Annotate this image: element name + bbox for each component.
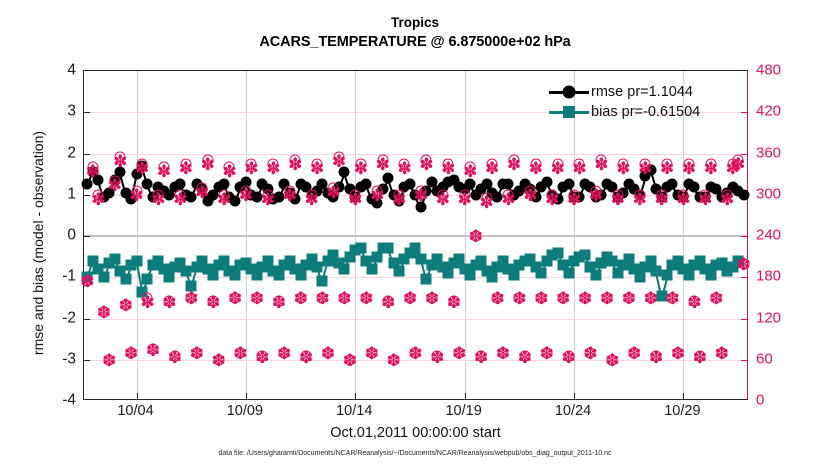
data-point-open-circle [426, 292, 437, 303]
data-point-open-circle [394, 189, 405, 200]
series-line-segment [87, 261, 94, 278]
data-point-open-circle [727, 158, 738, 169]
data-point-asterisk: ✽ [108, 181, 122, 195]
data-point-filled-square [574, 251, 585, 262]
data-point-asterisk: ✽ [299, 353, 313, 367]
data-point-asterisk: ✽ [551, 164, 565, 178]
series-line-segment [415, 195, 422, 208]
series-line-segment [322, 261, 329, 282]
series-line-segment [338, 263, 345, 270]
data-point-open-circle [158, 162, 169, 173]
series-line-segment [491, 267, 498, 278]
tick-left [84, 319, 90, 320]
series-line-segment [387, 179, 394, 196]
series-line-segment [119, 173, 126, 194]
series-line-segment [404, 253, 411, 260]
data-point-filled-circle [525, 183, 536, 194]
data-point-filled-circle [415, 202, 426, 213]
data-point-asterisk: ✽ [638, 164, 652, 178]
series-line-segment [464, 269, 471, 276]
series-line-segment [103, 193, 109, 198]
data-point-filled-square [328, 249, 339, 260]
data-point-filled-circle [661, 181, 672, 192]
series-line-segment [327, 193, 333, 198]
series-line-segment [382, 248, 388, 250]
data-point-filled-square [470, 259, 481, 270]
gridline-vertical [465, 71, 466, 399]
data-point-filled-circle [476, 183, 487, 194]
data-point-open-circle [410, 347, 421, 358]
series-line-segment [475, 261, 481, 266]
series-line-segment [426, 183, 433, 192]
series-line-segment [415, 249, 422, 260]
data-point-filled-square [164, 272, 175, 283]
data-point-filled-circle [306, 189, 317, 200]
data-point-filled-circle [344, 183, 355, 194]
data-point-asterisk: ✽ [233, 349, 247, 363]
data-point-filled-circle [629, 183, 640, 194]
left-tick-label: -4 [18, 392, 76, 408]
series-line-segment [322, 185, 329, 194]
chart-title-sub: ACARS_TEMPERATURE @ 6.875000e+02 hPa [0, 32, 830, 52]
data-point-open-circle [525, 186, 536, 197]
series-line-segment [480, 261, 487, 272]
data-point-filled-circle [443, 177, 454, 188]
data-point-open-circle [716, 347, 727, 358]
data-point-filled-square [399, 253, 410, 264]
data-point-filled-square [383, 242, 394, 253]
tick-right [741, 154, 747, 155]
series-line-segment [365, 185, 372, 200]
series-line-segment [393, 195, 400, 202]
series-line-segment [366, 261, 373, 270]
data-point-filled-circle [93, 175, 104, 186]
series-line-segment [475, 189, 482, 196]
series-line-segment [218, 261, 224, 266]
series-line-segment [169, 267, 176, 278]
data-point-open-circle [552, 158, 563, 169]
series-line-segment [376, 249, 383, 258]
data-point-filled-circle [109, 175, 120, 186]
data-point-filled-square [585, 261, 596, 272]
data-point-open-circle [465, 162, 476, 173]
data-point-filled-circle [120, 187, 131, 198]
data-point-asterisk: ✽ [212, 356, 226, 370]
data-point-asterisk: ✽ [277, 349, 291, 363]
series-line-segment [175, 184, 181, 188]
series-line-segment [316, 267, 323, 282]
series-line-segment [683, 269, 690, 276]
data-point-asterisk: ✽ [611, 195, 625, 209]
series-line-segment [300, 184, 306, 188]
series-line-segment [716, 263, 722, 267]
data-point-open-circle [733, 155, 744, 166]
right-tick-label: 120 [756, 310, 796, 325]
data-point-filled-circle [197, 183, 208, 194]
data-point-open-circle [470, 231, 481, 242]
data-point-filled-square [514, 259, 525, 270]
data-point-filled-circle [541, 177, 552, 188]
data-point-filled-circle [716, 191, 727, 202]
data-point-filled-square [301, 259, 312, 270]
data-point-filled-circle [399, 181, 410, 192]
data-point-filled-square [733, 255, 744, 266]
data-point-filled-square [257, 261, 268, 272]
data-point-open-circle [115, 151, 126, 162]
series-line-segment [158, 261, 165, 270]
series-line-segment [552, 195, 558, 200]
tick-right [741, 112, 747, 113]
gridline-horizontal [84, 360, 747, 361]
series-line-segment [628, 259, 635, 270]
data-point-asterisk: ✽ [239, 191, 253, 205]
data-point-filled-circle [240, 177, 251, 188]
data-point-filled-circle [694, 191, 705, 202]
data-point-filled-circle [328, 191, 339, 202]
data-point-asterisk: ✽ [627, 349, 641, 363]
data-point-asterisk: ✽ [321, 349, 335, 363]
data-point-filled-circle [672, 189, 683, 200]
data-point-open-circle [169, 351, 180, 362]
series-line-segment [273, 197, 279, 201]
data-point-filled-square [541, 255, 552, 266]
series-line-segment [644, 170, 651, 177]
data-point-open-circle [623, 292, 634, 303]
data-point-open-circle [361, 292, 372, 303]
data-point-asterisk: ✽ [250, 294, 264, 308]
series-line-segment [223, 261, 230, 272]
data-point-filled-square [629, 264, 640, 275]
series-line-segment [623, 185, 630, 194]
data-point-filled-circle [153, 181, 164, 192]
data-point-filled-circle [251, 191, 262, 202]
series-line-segment [234, 265, 241, 276]
data-point-asterisk: ✽ [496, 349, 510, 363]
series-line-segment [639, 177, 646, 196]
series-line-segment [87, 173, 94, 186]
data-point-open-circle [705, 158, 716, 169]
series-line-segment [694, 187, 701, 198]
data-point-filled-circle [486, 187, 497, 198]
data-point-filled-square [284, 255, 295, 266]
data-point-filled-square [208, 270, 219, 281]
data-point-filled-circle [339, 167, 350, 178]
data-point-filled-circle [612, 191, 623, 202]
data-point-filled-circle [246, 189, 257, 200]
data-point-open-circle [519, 351, 530, 362]
data-point-open-circle [547, 189, 558, 200]
data-point-filled-square [437, 261, 448, 272]
data-point-filled-circle [410, 189, 421, 200]
data-point-filled-circle [738, 189, 749, 200]
data-point-asterisk: ✽ [605, 356, 619, 370]
data-point-open-circle [301, 351, 312, 362]
series-line-segment [333, 187, 340, 198]
data-point-open-circle [87, 162, 98, 173]
data-point-filled-square [197, 255, 208, 266]
series-line-segment [607, 184, 613, 188]
series-line-segment [114, 172, 121, 181]
data-point-filled-circle [437, 181, 448, 192]
data-point-filled-circle [497, 179, 508, 190]
data-point-asterisk: ✽ [720, 195, 734, 209]
data-point-filled-square [476, 255, 487, 266]
data-point-open-circle [503, 189, 514, 200]
series-line-segment [650, 171, 657, 190]
series-line-segment [459, 187, 465, 191]
data-point-filled-square [279, 259, 290, 270]
series-line-segment [371, 257, 378, 270]
data-point-filled-square [492, 261, 503, 272]
data-point-open-circle [104, 354, 115, 365]
data-point-filled-circle [432, 185, 443, 196]
data-point-filled-circle [667, 179, 678, 190]
series-line-segment [147, 265, 154, 280]
data-point-filled-square [142, 274, 153, 285]
left-tick-label: 0 [18, 227, 76, 243]
series-line-segment [530, 189, 537, 198]
right-tick-label: 0 [756, 393, 796, 408]
data-point-open-circle [295, 292, 306, 303]
data-point-filled-square [322, 255, 333, 266]
data-point-filled-circle [366, 193, 377, 204]
series-line-segment [546, 183, 553, 196]
series-line-segment [678, 195, 684, 199]
data-point-filled-circle [404, 179, 415, 190]
data-point-asterisk: ✽ [687, 298, 701, 312]
data-point-asterisk: ✽ [140, 298, 154, 312]
data-point-filled-circle [257, 179, 268, 190]
data-point-filled-square [202, 264, 213, 275]
data-point-filled-square [448, 257, 459, 268]
data-point-asterisk: ✽ [381, 298, 395, 312]
tick-right [741, 360, 747, 361]
data-point-filled-circle [372, 198, 383, 209]
data-point-asterisk: ✽ [337, 294, 351, 308]
data-point-filled-square [311, 261, 322, 272]
series-line-segment [185, 195, 191, 199]
data-point-filled-circle [322, 187, 333, 198]
series-line-segment [617, 265, 624, 274]
data-point-filled-circle [678, 191, 689, 202]
data-point-filled-square [454, 253, 465, 264]
series-line-segment [535, 267, 542, 274]
data-point-filled-circle [601, 179, 612, 190]
series-line-segment [519, 261, 525, 266]
data-point-asterisk: ✽ [157, 167, 171, 181]
data-point-filled-circle [481, 179, 492, 190]
data-point-open-circle [186, 292, 197, 303]
data-point-filled-circle [623, 179, 634, 190]
legend-item-bias[interactable]: bias pr=-0.61504 [549, 102, 729, 122]
series-line-segment [245, 183, 252, 196]
data-point-asterisk: ✽ [649, 353, 663, 367]
data-point-filled-circle [98, 191, 109, 202]
data-point-open-circle [672, 347, 683, 358]
series-line-segment [355, 187, 362, 198]
data-point-filled-circle [607, 181, 618, 192]
data-point-filled-circle [492, 191, 503, 202]
data-point-asterisk: ✽ [206, 298, 220, 312]
data-point-filled-circle [596, 189, 607, 200]
data-point-asterisk: ✽ [682, 164, 696, 178]
data-point-open-circle [290, 155, 301, 166]
data-point-asterisk: ✽ [704, 164, 718, 178]
tick-left [84, 195, 90, 196]
data-point-filled-square [388, 257, 399, 268]
data-point-open-circle [683, 158, 694, 169]
data-point-open-circle [109, 176, 120, 187]
series-line-segment [661, 187, 668, 198]
data-point-filled-square [552, 247, 563, 258]
data-point-filled-square [295, 270, 306, 281]
data-point-filled-square [700, 264, 711, 275]
right-tick-label: 180 [756, 269, 796, 284]
series-line-segment [601, 257, 608, 264]
data-point-filled-square [421, 274, 432, 285]
left-tick-label: -1 [18, 269, 76, 285]
data-point-open-circle [383, 296, 394, 307]
data-point-filled-circle [126, 193, 137, 204]
data-point-filled-circle [547, 189, 558, 200]
data-point-filled-square [268, 266, 279, 277]
data-point-open-circle [344, 354, 355, 365]
series-line-segment [590, 267, 597, 276]
data-point-filled-square [426, 259, 437, 270]
series-line-segment [601, 185, 608, 196]
series-line-segment [442, 267, 449, 274]
gridline-horizontal [84, 154, 747, 155]
data-point-open-circle [476, 351, 487, 362]
data-point-filled-square [344, 251, 355, 262]
data-point-open-circle [596, 155, 607, 166]
series-line-segment [666, 265, 673, 276]
series-line-segment [448, 180, 454, 184]
data-point-open-circle [508, 155, 519, 166]
data-point-filled-circle [519, 179, 530, 190]
data-point-open-circle [722, 189, 733, 200]
series-line-segment [497, 261, 504, 268]
series-line-segment [585, 184, 591, 188]
data-point-filled-circle [87, 167, 98, 178]
data-point-open-circle [235, 347, 246, 358]
series-line-segment [727, 267, 733, 272]
series-line-segment [606, 257, 612, 262]
data-point-open-circle [82, 275, 93, 286]
series-line-segment [431, 183, 438, 192]
data-point-open-circle [492, 292, 503, 303]
data-point-asterisk: ✽ [633, 195, 647, 209]
data-point-asterisk: ✽ [660, 164, 674, 178]
data-point-open-circle [678, 189, 689, 200]
data-point-filled-circle [355, 181, 366, 192]
data-point-asterisk: ✽ [655, 195, 669, 209]
data-point-filled-square [486, 272, 497, 283]
series-line-segment [563, 184, 569, 188]
series-line-segment [311, 191, 317, 196]
series-line-segment [114, 259, 121, 272]
right-tick-label: 300 [756, 186, 796, 201]
data-point-asterisk: ✽ [644, 294, 658, 308]
data-point-asterisk: ✽ [91, 195, 105, 209]
data-point-filled-circle [191, 179, 202, 190]
left-tick-label: 3 [18, 104, 76, 120]
data-point-asterisk: ✽ [376, 160, 390, 174]
data-point-open-circle [536, 292, 547, 303]
series-line-segment [174, 263, 180, 268]
data-point-filled-circle [536, 181, 547, 192]
series-line-segment [311, 259, 318, 268]
data-point-filled-square [120, 274, 131, 285]
series-line-segment [229, 197, 235, 202]
data-point-filled-square [612, 268, 623, 279]
series-line-segment [628, 185, 634, 190]
data-point-filled-square [82, 272, 93, 283]
data-point-filled-circle [219, 179, 230, 190]
data-point-filled-circle [700, 191, 711, 202]
data-point-open-circle [541, 347, 552, 358]
series-line-segment [579, 185, 586, 198]
data-point-filled-square [536, 268, 547, 279]
data-point-open-circle [607, 354, 618, 365]
series-line-segment [705, 187, 712, 198]
data-point-filled-square [716, 257, 727, 268]
data-point-open-circle [355, 158, 366, 169]
data-point-filled-square [465, 270, 476, 281]
left-tick-label: 4 [18, 62, 76, 78]
data-point-filled-circle [711, 183, 722, 194]
series-line-segment [497, 185, 504, 198]
series-line-segment [207, 195, 214, 202]
series-line-segment [109, 259, 115, 264]
data-point-asterisk: ✽ [387, 356, 401, 370]
tick-bottom [574, 393, 575, 399]
data-point-filled-square [246, 264, 257, 275]
series-line-segment [677, 261, 684, 270]
data-point-filled-circle [470, 189, 481, 200]
series-line-segment [327, 255, 334, 262]
series-line-segment [525, 259, 531, 263]
data-point-filled-square [93, 264, 104, 275]
bottom-tick-label: 10/19 [445, 404, 481, 419]
right-tick-label: 360 [756, 145, 796, 160]
series-line-segment [623, 259, 630, 266]
data-point-open-circle [257, 351, 268, 362]
data-point-asterisk: ✽ [709, 294, 723, 308]
series-line-segment [136, 261, 143, 292]
data-point-filled-circle [689, 181, 700, 192]
data-point-asterisk: ✽ [589, 191, 603, 205]
series-line-segment [689, 184, 695, 188]
data-point-open-circle [432, 351, 443, 362]
series-line-segment [305, 187, 312, 196]
data-point-filled-circle [273, 191, 284, 202]
data-point-filled-square [530, 261, 541, 272]
legend-item-rmse[interactable]: rmse pr=1.1044 [549, 82, 729, 102]
data-point-open-circle [415, 186, 426, 197]
data-point-asterisk: ✽ [168, 353, 182, 367]
data-point-filled-circle [383, 173, 394, 184]
data-point-filled-square [251, 270, 262, 281]
series-line-segment [535, 187, 542, 198]
series-line-segment [185, 272, 192, 287]
data-point-open-circle [497, 347, 508, 358]
tick-left [84, 154, 90, 155]
data-point-asterisk: ✽ [97, 308, 111, 322]
data-point-filled-square [683, 270, 694, 281]
data-point-filled-square [672, 255, 683, 266]
data-point-filled-square [410, 243, 421, 254]
